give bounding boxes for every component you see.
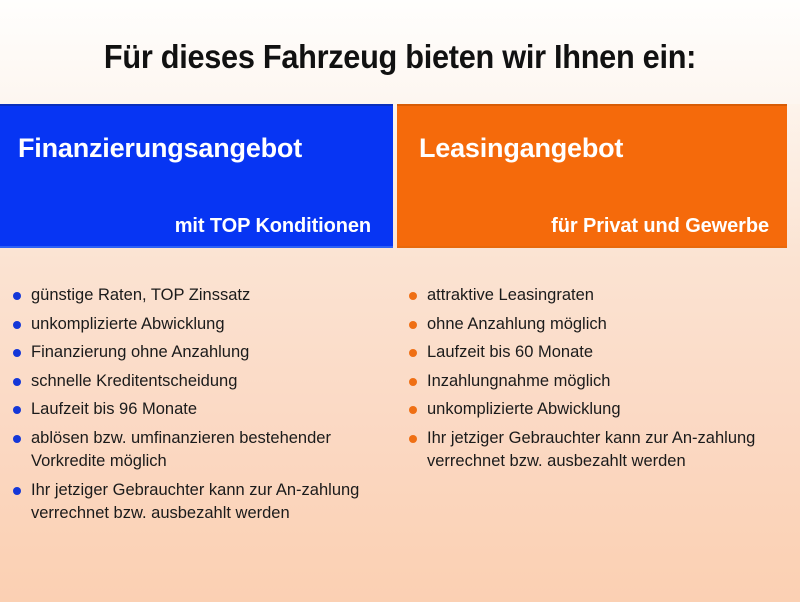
bullet-icon <box>13 378 21 386</box>
list-item: Ihr jetziger Gebrauchter kann zur An-zah… <box>10 479 390 526</box>
list-item: günstige Raten, TOP Zinssatz <box>10 284 390 308</box>
list-item-label: unkomplizierte Abwicklung <box>31 313 390 337</box>
title-bar: Für dieses Fahrzeug bieten wir Ihnen ein… <box>0 0 800 104</box>
list-item-label: ohne Anzahlung möglich <box>427 313 790 337</box>
list-item-label: Inzahlungnahme möglich <box>427 370 790 394</box>
bullet-icon <box>409 349 417 357</box>
list-item-label: Finanzierung ohne Anzahlung <box>31 341 390 365</box>
bullet-icon <box>13 406 21 414</box>
list-item-label: Laufzeit bis 60 Monate <box>427 341 790 365</box>
finance-benefits-list: günstige Raten, TOP Zinssatzunkomplizier… <box>10 284 390 531</box>
list-item-label: Ihr jetziger Gebrauchter kann zur An-zah… <box>427 427 790 474</box>
finance-offer-panel: Finanzierungsangebot mit TOP Konditionen <box>0 104 393 248</box>
list-item-label: unkomplizierte Abwicklung <box>427 398 790 422</box>
list-item: Ihr jetziger Gebrauchter kann zur An-zah… <box>406 427 790 474</box>
list-item-label: Ihr jetziger Gebrauchter kann zur An-zah… <box>31 479 390 526</box>
list-item: Laufzeit bis 96 Monate <box>10 398 390 422</box>
bullet-icon <box>13 435 21 443</box>
bullet-icon <box>13 292 21 300</box>
list-item-label: ablösen bzw. umfinanzieren bestehender V… <box>31 427 390 474</box>
list-item-label: Laufzeit bis 96 Monate <box>31 398 390 422</box>
bullet-icon <box>409 321 417 329</box>
bullet-icon <box>409 406 417 414</box>
list-item: Laufzeit bis 60 Monate <box>406 341 790 365</box>
bullet-icon <box>13 349 21 357</box>
list-item-label: schnelle Kreditentscheidung <box>31 370 390 394</box>
leasing-offer-panel: Leasingangebot für Privat und Gewerbe <box>397 104 787 248</box>
bullet-icon <box>409 378 417 386</box>
page-title: Für dieses Fahrzeug bieten wir Ihnen ein… <box>28 38 772 76</box>
list-item: Inzahlungnahme möglich <box>406 370 790 394</box>
bullet-icon <box>13 487 21 495</box>
finance-panel-heading: Finanzierungsangebot <box>18 133 302 164</box>
bullet-icon <box>409 292 417 300</box>
leasing-panel-subheading: für Privat und Gewerbe <box>551 215 769 238</box>
leasing-panel-heading: Leasingangebot <box>419 133 623 164</box>
offer-poster: Für dieses Fahrzeug bieten wir Ihnen ein… <box>0 0 800 602</box>
list-item: ohne Anzahlung möglich <box>406 313 790 337</box>
list-item: ablösen bzw. umfinanzieren bestehender V… <box>10 427 390 474</box>
bullet-icon <box>13 321 21 329</box>
list-item: unkomplizierte Abwicklung <box>406 398 790 422</box>
list-item-label: günstige Raten, TOP Zinssatz <box>31 284 390 308</box>
list-item: schnelle Kreditentscheidung <box>10 370 390 394</box>
list-item: Finanzierung ohne Anzahlung <box>10 341 390 365</box>
bullet-icon <box>409 435 417 443</box>
list-item: unkomplizierte Abwicklung <box>10 313 390 337</box>
list-item: attraktive Leasingraten <box>406 284 790 308</box>
list-item-label: attraktive Leasingraten <box>427 284 790 308</box>
finance-panel-subheading: mit TOP Konditionen <box>175 215 371 238</box>
leasing-benefits-list: attraktive Leasingratenohne Anzahlung mö… <box>406 284 790 479</box>
